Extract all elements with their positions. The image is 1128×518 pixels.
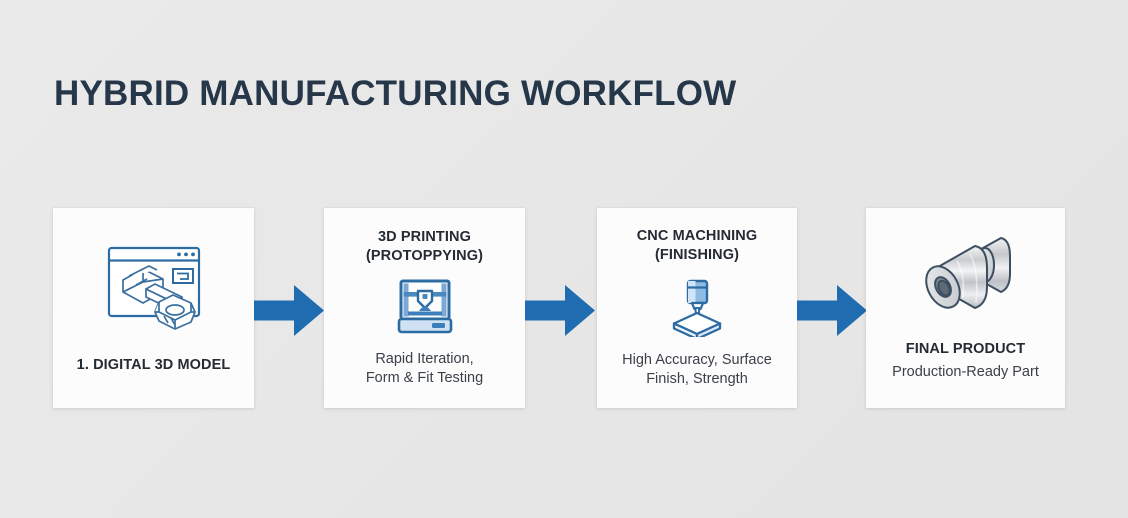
workflow-step-subtitle: Rapid Iteration, Form & Fit Testing bbox=[366, 350, 483, 388]
workflow-step-subtitle: Production-Ready Part bbox=[892, 363, 1039, 382]
arrow-right-icon-3 bbox=[797, 283, 868, 338]
workflow-step-title: 1. DIGITAL 3D MODEL bbox=[77, 356, 231, 375]
workflow-step-title: CNC MACHINING (FINISHING) bbox=[637, 227, 758, 265]
page-title: HYBRID MANUFACTURING WORKFLOW bbox=[54, 74, 736, 114]
3d-printer-icon bbox=[394, 278, 456, 336]
cnc-spindle-icon bbox=[668, 279, 726, 337]
workflow-step-title: 3D PRINTING (PROTOPPYING) bbox=[366, 228, 483, 266]
workflow-step-subtitle: High Accuracy, Surface Finish, Strength bbox=[622, 351, 772, 389]
workflow-step-digital-3d-model[interactable]: 1. DIGITAL 3D MODEL bbox=[53, 208, 254, 408]
workflow-step-title: FINAL PRODUCT bbox=[906, 340, 1025, 359]
workflow-step-3d-printing[interactable]: 3D PRINTING (PROTOPPYING) bbox=[324, 208, 525, 408]
arrow-right-icon-1 bbox=[254, 283, 325, 338]
workflow-step-final-product[interactable]: FINAL PRODUCT Production-Ready Part bbox=[866, 208, 1065, 408]
machined-part-icon bbox=[913, 234, 1019, 322]
arrow-right-icon-2 bbox=[525, 283, 596, 338]
cad-window-icon bbox=[99, 240, 209, 334]
workflow-diagram: 1. DIGITAL 3D MODEL 3D PRINTING (PROTOPP… bbox=[53, 208, 1065, 408]
workflow-step-cnc-machining[interactable]: CNC MACHINING (FINISHING) High Accuracy,… bbox=[597, 208, 797, 408]
